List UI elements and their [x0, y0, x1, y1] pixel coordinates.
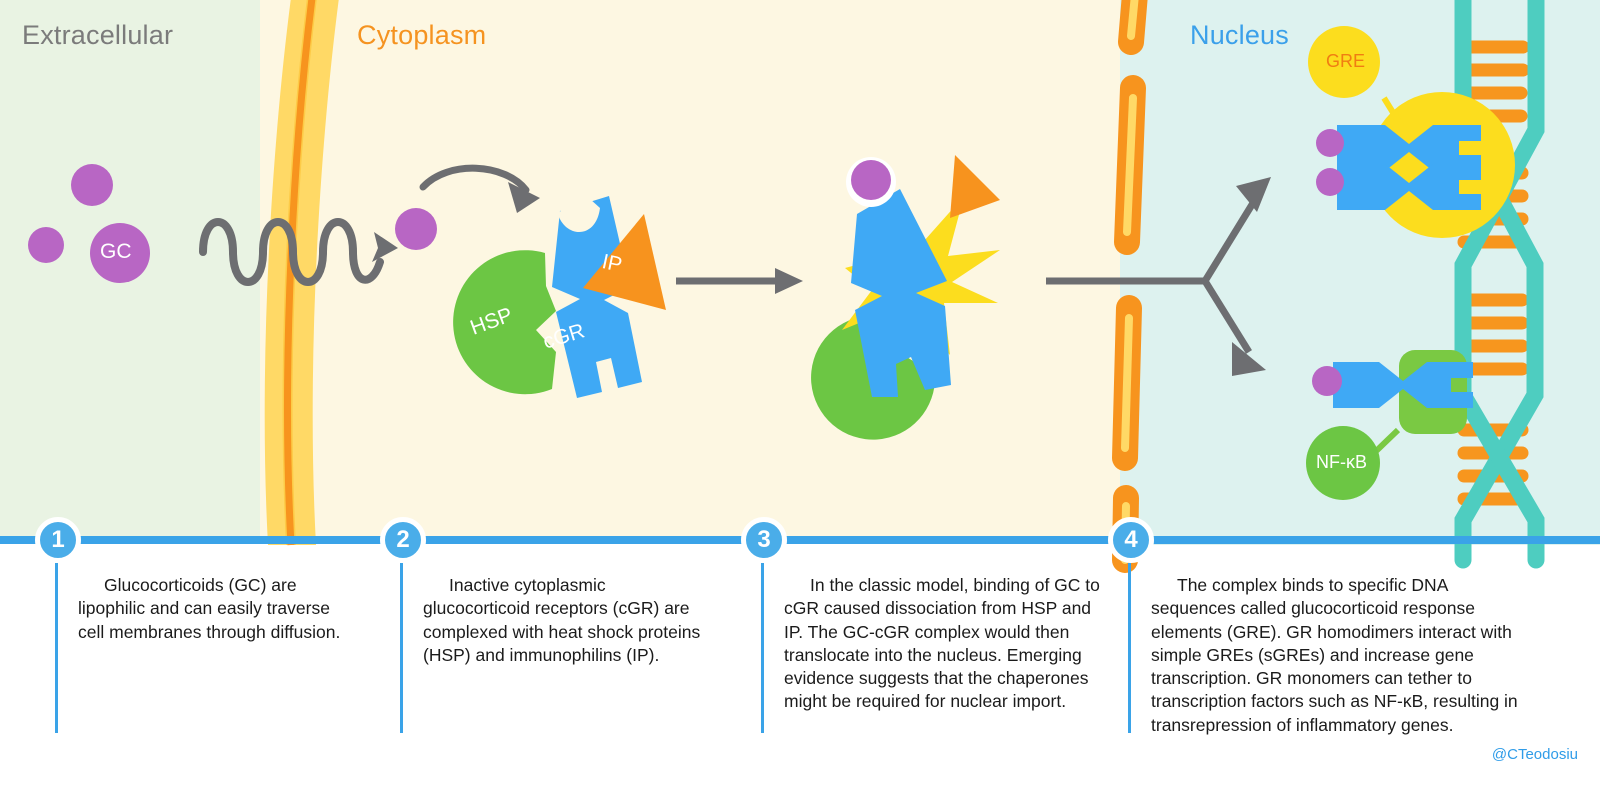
nfkb-label: NF-κB [1316, 452, 1367, 473]
timeline-bar [0, 536, 1600, 544]
step-divider-3 [761, 563, 764, 733]
step-caption-3: In the classic model, binding of GC to c… [784, 574, 1101, 714]
gc-label: GC [100, 240, 132, 264]
gre-label: GRE [1326, 51, 1365, 72]
zone-label-extracellular: Extracellular [22, 20, 173, 51]
step-caption-4: The complex binds to specific DNA sequen… [1151, 574, 1536, 737]
step-divider-4 [1128, 563, 1131, 733]
step-marker-1[interactable]: 1 [35, 517, 81, 563]
author-watermark: @CTeodosiu [1492, 746, 1578, 763]
step-marker-2[interactable]: 2 [380, 517, 426, 563]
step-divider-2 [400, 563, 403, 733]
zone-label-cytoplasm: Cytoplasm [357, 20, 486, 51]
step-caption-1: Glucocorticoids (GC) are lipophilic and … [78, 574, 348, 644]
cytoplasm-region [260, 0, 1160, 540]
step-marker-4[interactable]: 4 [1108, 517, 1154, 563]
extracellular-region [0, 0, 300, 540]
infographic-canvas: Extracellular Cytoplasm Nucleus GC HSP c… [0, 0, 1600, 791]
zone-label-nucleus: Nucleus [1190, 20, 1289, 51]
step-marker-3[interactable]: 3 [741, 517, 787, 563]
step-divider-1 [55, 563, 58, 733]
step-caption-2: Inactive cytoplasmic glucocorticoid rece… [423, 574, 713, 667]
